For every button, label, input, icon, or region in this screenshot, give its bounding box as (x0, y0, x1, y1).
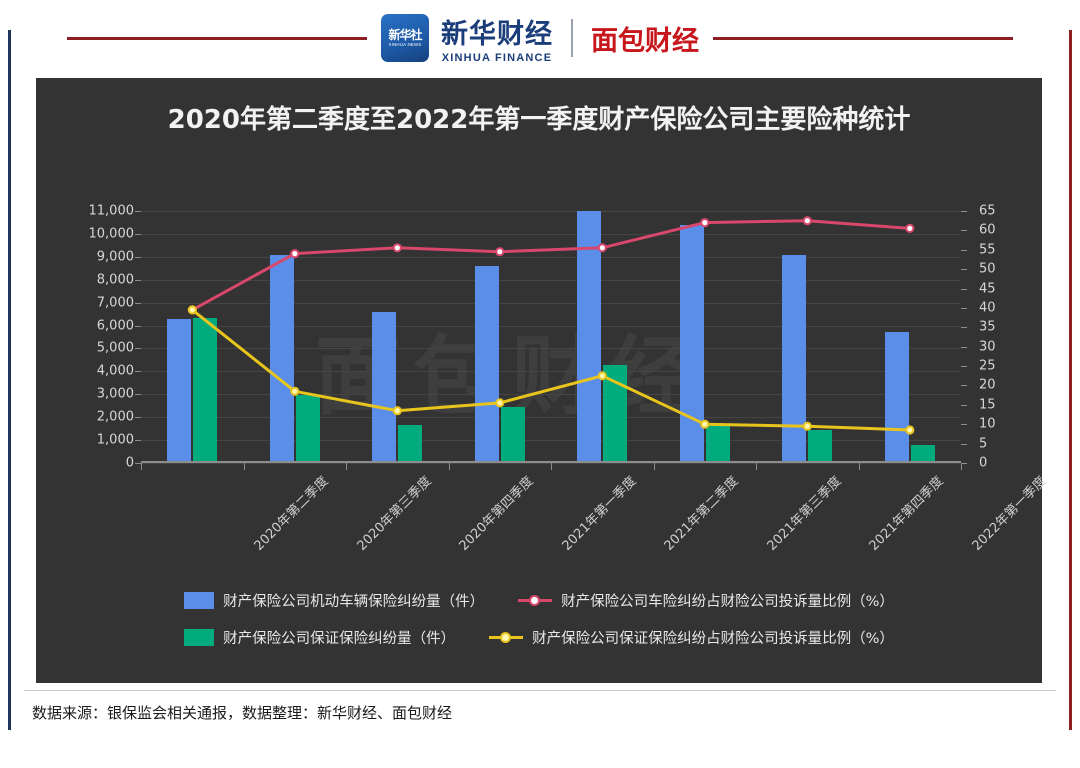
right-axis-tick-label: 40 (979, 300, 996, 315)
line-data-point[interactable] (906, 426, 913, 433)
line-data-point[interactable] (599, 372, 606, 379)
x-axis-tick-label: 2020年第四季度 (454, 471, 537, 554)
right-axis-tickmark (961, 289, 967, 290)
left-axis-tick-label: 11,000 (89, 204, 135, 219)
right-axis-tickmark (961, 444, 967, 445)
legend-line-pink-icon (518, 592, 552, 609)
left-axis-tick-label: 6,000 (97, 318, 134, 333)
right-axis-tickmark (961, 327, 967, 328)
category-tickmark (961, 463, 962, 470)
xinhua-news-logo-cn: 新华社 (388, 29, 421, 41)
legend-label-motor-ratio-line: 财产保险公司车险纠纷占财险公司投诉量比例（%） (561, 590, 894, 611)
line-data-point[interactable] (804, 217, 811, 224)
line-data-point[interactable] (394, 244, 401, 251)
line-data-point[interactable] (804, 423, 811, 430)
right-axis-tickmark (961, 269, 967, 270)
right-axis-tick-label: 25 (979, 359, 996, 374)
legend-item-motor-ratio-line[interactable]: 财产保险公司车险纠纷占财险公司投诉量比例（%） (518, 590, 894, 611)
brand-rule-right (713, 37, 1013, 40)
right-axis-tick-label: 60 (979, 223, 996, 238)
right-axis-tick-label: 5 (979, 436, 987, 451)
legend-item-guarantee-bar[interactable]: 财产保险公司保证保险纠纷量（件） (184, 627, 455, 648)
decorative-rule-left (8, 30, 11, 730)
line-series-overlay (141, 211, 961, 463)
category-tickmark (859, 463, 860, 470)
right-axis-tickmark (961, 250, 967, 251)
x-axis-tick-label: 2021年第二季度 (659, 471, 742, 554)
x-axis-tick-label: 2020年第三季度 (351, 471, 434, 554)
left-axis-tick-label: 10,000 (89, 226, 135, 241)
legend-item-guarantee-ratio-line[interactable]: 财产保险公司保证保险纠纷占财险公司投诉量比例（%） (489, 627, 894, 648)
right-axis-tick-label: 45 (979, 281, 996, 296)
right-axis-tick-label: 35 (979, 320, 996, 335)
plot-area: 01,0002,0003,0004,0005,0006,0007,0008,00… (141, 211, 961, 463)
category-tickmark (141, 463, 142, 470)
brand-header: 新华社 XINHUA NEWS 新华财经 XINHUA FINANCE 面包财经 (0, 0, 1080, 76)
xinhua-news-logo-icon: 新华社 XINHUA NEWS (381, 14, 429, 62)
right-axis-tick-label: 10 (979, 417, 996, 432)
right-axis-tick-label: 30 (979, 339, 996, 354)
x-axis-tick-label: 2021年第一季度 (556, 471, 639, 554)
left-axis-tick-label: 3,000 (97, 387, 134, 402)
line-data-point[interactable] (291, 388, 298, 395)
left-axis-tick-label: 0 (126, 456, 134, 471)
xinhua-news-logo-en: XINHUA NEWS (389, 43, 422, 47)
right-axis-tick-label: 55 (979, 242, 996, 257)
legend-label-guarantee-bar: 财产保险公司保证保险纠纷量（件） (223, 627, 455, 648)
line-data-point[interactable] (394, 407, 401, 414)
left-axis-tick-label: 5,000 (97, 341, 134, 356)
line-data-point[interactable] (496, 399, 503, 406)
category-tickmark (756, 463, 757, 470)
category-tickmark (654, 463, 655, 470)
brand-logo-cluster: 新华社 XINHUA NEWS 新华财经 XINHUA FINANCE 面包财经 (367, 12, 713, 64)
legend-row-1: 财产保险公司机动车辆保险纠纷量（件） 财产保险公司车险纠纷占财险公司投诉量比例（… (96, 590, 982, 611)
line-series-path (192, 221, 910, 310)
category-tickmark (346, 463, 347, 470)
category-tickmark (244, 463, 245, 470)
right-axis-tick-label: 65 (979, 204, 996, 219)
line-data-point[interactable] (701, 219, 708, 226)
legend-swatch-green-icon (184, 629, 214, 646)
right-axis-tick-label: 20 (979, 378, 996, 393)
x-axis-tick-label: 2020年第二季度 (249, 471, 332, 554)
x-axis-tick-labels: 2020年第二季度2020年第三季度2020年第四季度2021年第一季度2021… (141, 471, 961, 581)
line-data-point[interactable] (701, 421, 708, 428)
legend-swatch-blue-icon (184, 592, 214, 609)
decorative-rule-right (1069, 30, 1072, 730)
line-data-point[interactable] (496, 248, 503, 255)
legend-row-2: 财产保险公司保证保险纠纷量（件） 财产保险公司保证保险纠纷占财险公司投诉量比例（… (96, 627, 982, 648)
line-data-point[interactable] (906, 225, 913, 232)
legend-line-yellow-icon (489, 629, 523, 646)
right-axis-tick-label: 15 (979, 397, 996, 412)
legend-label-motor-vehicle-bar: 财产保险公司机动车辆保险纠纷量（件） (223, 590, 484, 611)
right-axis-tick-label: 50 (979, 262, 996, 277)
line-data-point[interactable] (291, 250, 298, 257)
chart-card: 2020年第二季度至2022年第一季度财产保险公司主要险种统计 面包财经 01,… (36, 78, 1042, 683)
right-axis-tickmark (961, 211, 967, 212)
brand-divider (571, 19, 573, 57)
xinhua-finance-cn: 新华财经 (441, 12, 553, 51)
right-axis-tickmark (961, 405, 967, 406)
category-tickmark (551, 463, 552, 470)
footer-source-note: 数据来源：银保监会相关通报，数据整理：新华财经、面包财经 (32, 702, 452, 723)
left-axis-tick-label: 8,000 (97, 272, 134, 287)
right-axis-tickmark (961, 385, 967, 386)
right-axis-tickmark (961, 230, 967, 231)
right-axis-tickmark (961, 424, 967, 425)
category-tickmark (449, 463, 450, 470)
line-data-point[interactable] (189, 306, 196, 313)
x-axis-tick-label: 2022年第一季度 (966, 471, 1049, 554)
mianbao-finance-wordmark: 面包财经 (591, 19, 699, 58)
legend-item-motor-vehicle-bar[interactable]: 财产保险公司机动车辆保险纠纷量（件） (184, 590, 484, 611)
line-series-path (192, 310, 910, 430)
chart-legend: 财产保险公司机动车辆保险纠纷量（件） 财产保险公司车险纠纷占财险公司投诉量比例（… (96, 590, 982, 664)
left-axis-tick-label: 9,000 (97, 249, 134, 264)
left-axis-tick-label: 4,000 (97, 364, 134, 379)
right-axis-tickmark (961, 366, 967, 367)
left-axis-tick-label: 7,000 (97, 295, 134, 310)
xinhua-finance-wordmark: 新华财经 XINHUA FINANCE (441, 12, 553, 64)
chart-title: 2020年第二季度至2022年第一季度财产保险公司主要险种统计 (96, 104, 982, 137)
footer-divider (24, 690, 1056, 691)
right-axis-tickmark (961, 308, 967, 309)
brand-rule-left (67, 37, 367, 40)
left-axis-tick-label: 1,000 (97, 433, 134, 448)
xinhua-finance-en: XINHUA FINANCE (442, 52, 553, 64)
plot-wrapper: 01,0002,0003,0004,0005,0006,0007,0008,00… (36, 203, 1042, 623)
x-axis-tick-label: 2021年第三季度 (761, 471, 844, 554)
x-axis-tick-label: 2021年第四季度 (864, 471, 947, 554)
legend-label-guarantee-ratio-line: 财产保险公司保证保险纠纷占财险公司投诉量比例（%） (532, 627, 894, 648)
left-axis-tick-label: 2,000 (97, 410, 134, 425)
right-axis-tick-label: 0 (979, 456, 987, 471)
right-axis-tickmark (961, 347, 967, 348)
line-data-point[interactable] (599, 244, 606, 251)
